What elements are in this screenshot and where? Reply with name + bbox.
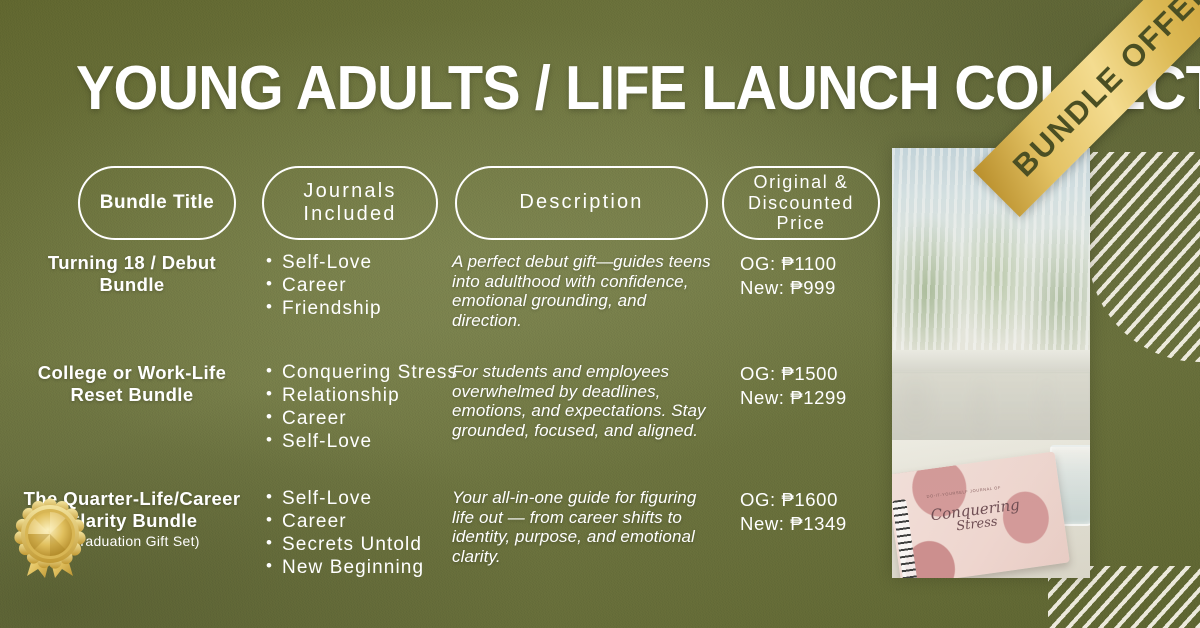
price-original: OG: ₱1100 [740,252,890,276]
cell-description: For students and employees overwhelmed b… [452,362,714,441]
journal-cover-kicker: DO-IT-YOURSELF JOURNAL OF [916,483,1011,500]
table-header-row: Bundle Title Journals Included Descripti… [0,166,890,242]
list-item: Self-Love [282,252,452,274]
price-original: OG: ₱1500 [740,362,890,386]
column-header-journals-included: Journals Included [262,166,438,240]
cell-price: OG: ₱1500 New: ₱1299 [740,362,890,410]
list-item: Career [282,275,452,297]
column-header-label: Bundle Title [100,192,214,214]
cell-price: OG: ₱1600 New: ₱1349 [740,488,890,536]
list-item: Career [282,511,452,533]
price-discounted: New: ₱1299 [740,386,890,410]
cell-journals-included: Self-Love Career Secrets Untold New Begi… [262,488,452,580]
journal-cover-title: Conquering Stress [897,493,1056,540]
journals-list: Self-Love Career Secrets Untold New Begi… [262,488,452,579]
photo-chairs [892,372,1090,449]
list-item: Relationship [282,385,452,407]
cell-price: OG: ₱1100 New: ₱999 [740,252,890,300]
column-header-description: Description [455,166,708,240]
column-header-price: Original & Discounted Price [722,166,880,240]
photo-window-ledge [892,350,1090,372]
description-text: Your all-in-one guide for figuring life … [452,488,714,567]
list-item: Secrets Untold [282,534,452,556]
product-photo: DO-IT-YOURSELF JOURNAL OF Conquering Str… [892,148,1090,578]
list-item: Friendship [282,298,452,320]
journals-list: Conquering Stress Relationship Career Se… [262,362,452,453]
list-item: Self-Love [282,488,452,510]
list-item: Conquering Stress [282,362,452,384]
column-header-bundle-title: Bundle Title [78,166,236,240]
bundle-title-text: College or Work-Life Reset Bundle [18,362,246,406]
cell-bundle-title: College or Work-Life Reset Bundle [18,362,246,406]
cell-bundle-title: Turning 18 / Debut Bundle [18,252,246,296]
bundle-title-text: Turning 18 / Debut Bundle [18,252,246,296]
cell-journals-included: Conquering Stress Relationship Career Se… [262,362,452,454]
description-text: For students and employees overwhelmed b… [452,362,714,441]
poster-canvas: DO-IT-YOURSELF JOURNAL OF Conquering Str… [0,0,1200,628]
cell-description: Your all-in-one guide for figuring life … [452,488,714,567]
price-discounted: New: ₱999 [740,276,890,300]
column-header-label: Description [519,191,643,214]
photo-journal-cover: DO-IT-YOURSELF JOURNAL OF Conquering Str… [892,451,1070,578]
price-original: OG: ₱1600 [740,488,890,512]
price-discounted: New: ₱1349 [740,512,890,536]
column-header-label: Original & Discounted Price [734,172,868,235]
list-item: New Beginning [282,557,452,579]
page-title: YOUNG ADULTS / LIFE LAUNCH COLLECTION [76,58,1006,120]
description-text: A perfect debut gift—guides teens into a… [452,252,714,331]
cell-description: A perfect debut gift—guides teens into a… [452,252,714,331]
journals-list: Self-Love Career Friendship [262,252,452,320]
list-item: Self-Love [282,431,452,453]
cell-journals-included: Self-Love Career Friendship [262,252,452,321]
striped-quarter-circle-decoration [1088,152,1200,362]
list-item: Career [282,408,452,430]
column-header-label: Journals Included [274,180,426,226]
award-ribbon-icon [14,496,86,580]
